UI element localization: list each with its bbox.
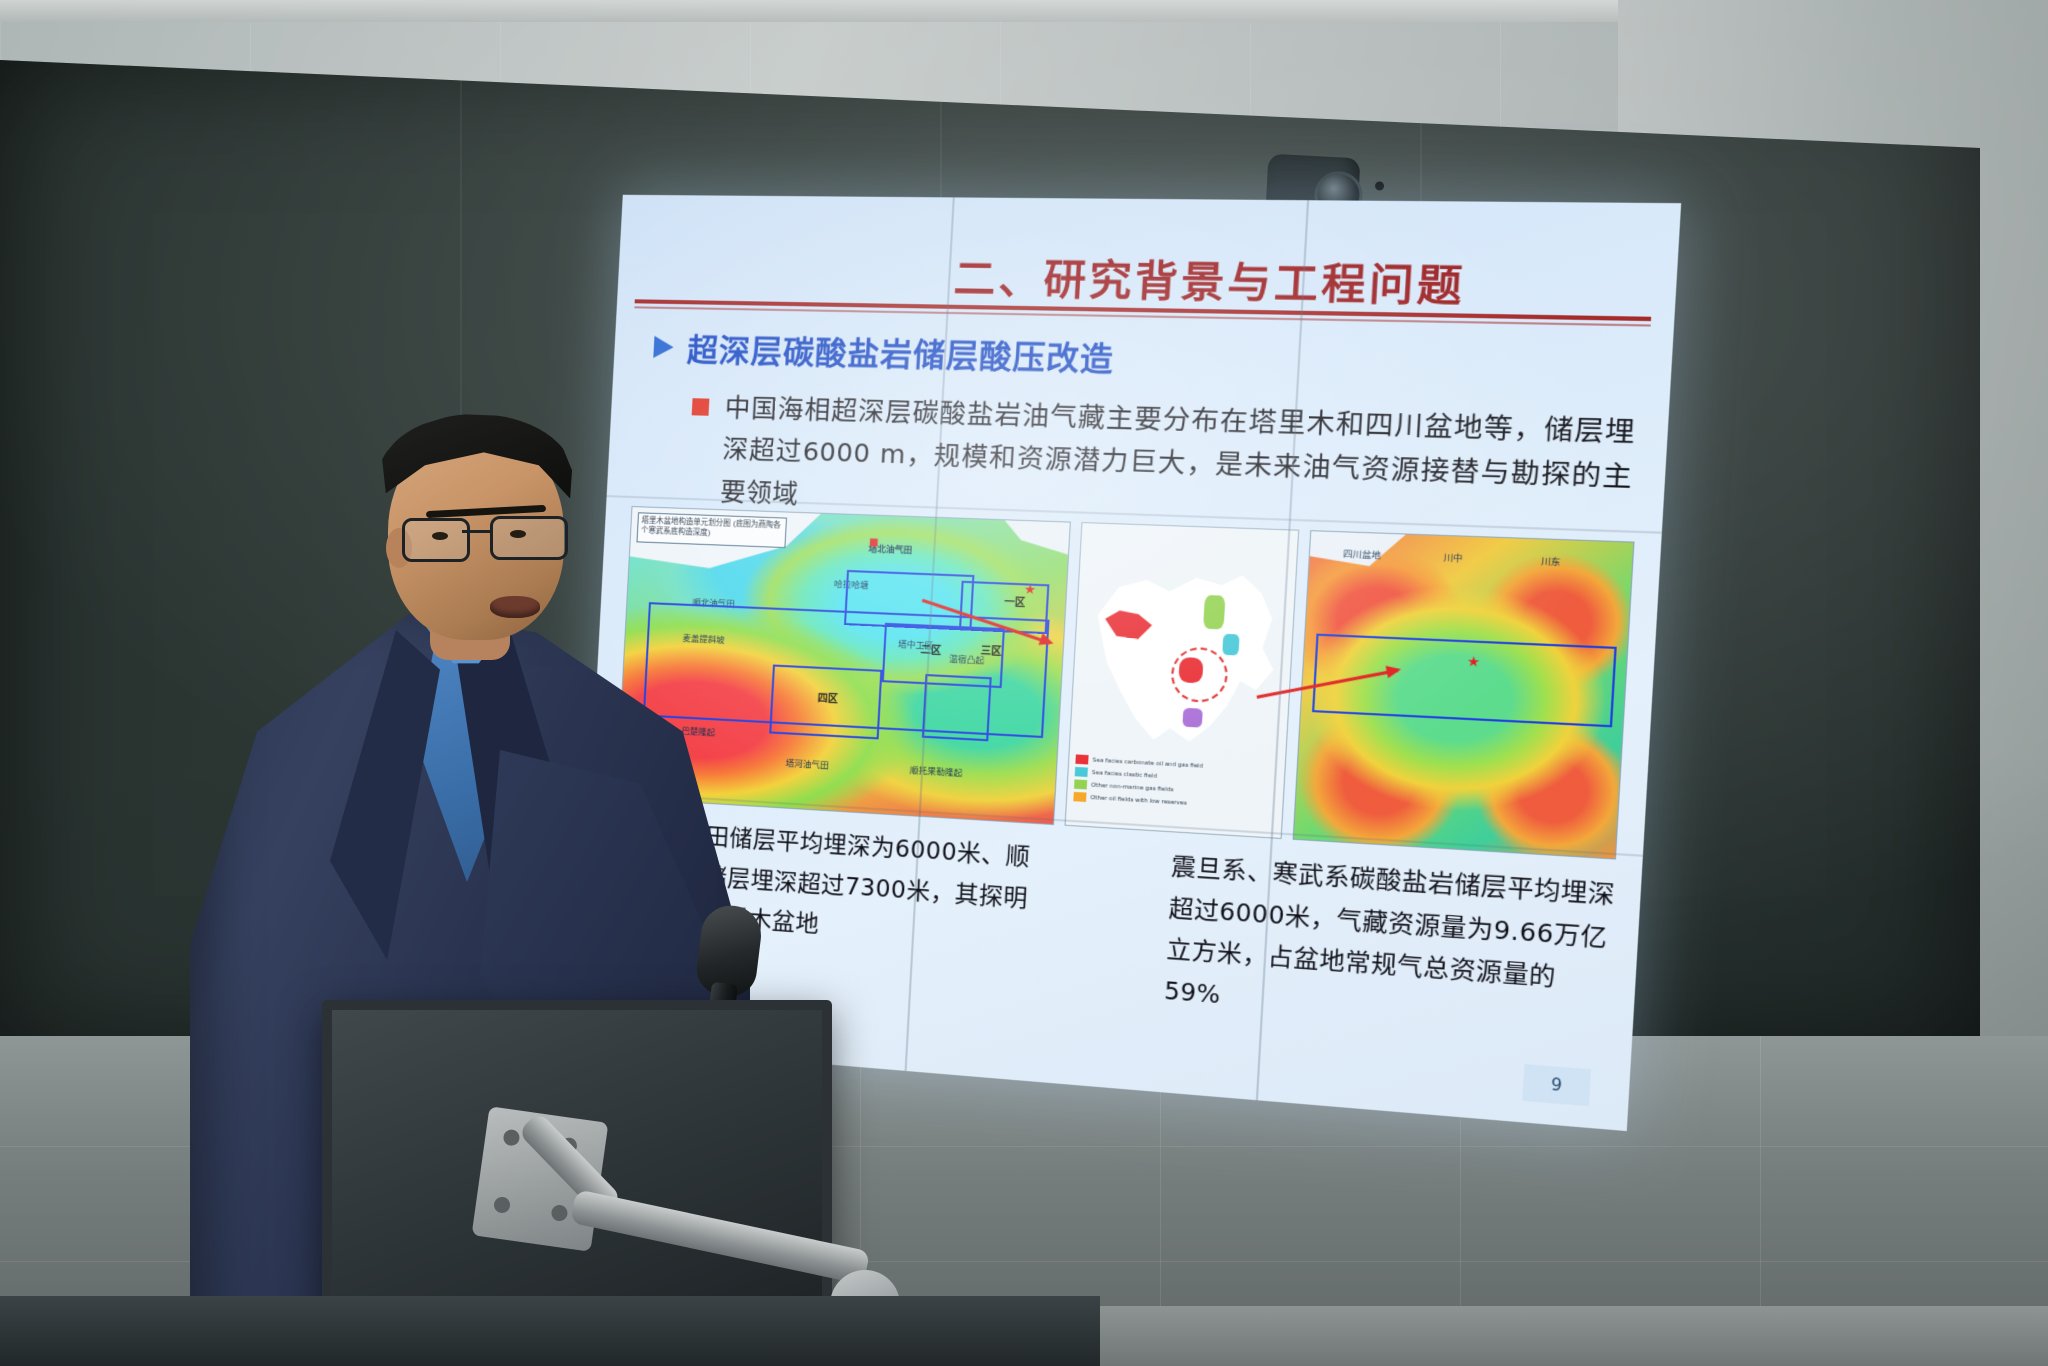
- red-square-icon: ■: [869, 538, 879, 549]
- zone-label-1: 一区: [1004, 593, 1026, 609]
- glasses-bridge: [462, 530, 492, 533]
- arrow-bullet-icon: [653, 335, 674, 358]
- screenshot-root: 二、研究背景与工程问题 超深层碳酸盐岩储层酸压改造 中国海相超深层碳酸盐岩油气藏…: [0, 0, 2048, 1366]
- slide-heading-row: 超深层碳酸盐岩储层酸压改造: [653, 324, 1116, 380]
- camera-indicator-icon: [1375, 181, 1384, 190]
- cyan-field-icon: [1222, 634, 1239, 656]
- speaker-eye-right: [510, 530, 526, 538]
- sichuan-label-2: 川东: [1541, 555, 1561, 569]
- legend-swatch-icon: [1074, 779, 1087, 789]
- legend-label: Sea facies carbonate oil and gas field: [1092, 757, 1203, 769]
- sichuan-label-0: 四川盆地: [1343, 547, 1381, 561]
- red-star-icon: ★: [1466, 655, 1480, 670]
- legend-swatch-icon: [1075, 754, 1088, 764]
- caption-right: 震旦系、寒武系碳酸盐岩储层平均埋深超过6000米，气藏资源量为9.66万亿立方米…: [1163, 847, 1619, 1047]
- glasses-lens-right: [490, 516, 568, 560]
- slide-heading-text: 超深层碳酸盐岩储层酸压改造: [686, 324, 1115, 379]
- zone-label-3: 三区: [980, 642, 1002, 658]
- speaker-mouth: [490, 596, 540, 618]
- legend-swatch-icon: [1073, 792, 1086, 802]
- zone-label-2: 二区: [920, 641, 941, 657]
- slide-page-number: 9: [1522, 1064, 1591, 1106]
- legend-label: Other non-marine gas fields: [1091, 782, 1174, 793]
- monitor-arm-segment-lower: [570, 1189, 871, 1285]
- legend-label: Other oil fields with low reserves: [1090, 794, 1187, 806]
- sichuan-label-1: 川中: [1443, 551, 1463, 565]
- legend-swatch-icon: [1075, 767, 1088, 777]
- red-star-icon: ★: [1023, 583, 1036, 597]
- sichuan-basin-structure-map: 四川盆地 川中 川东 ★: [1293, 530, 1635, 859]
- green-field-icon: [1203, 595, 1225, 630]
- china-distribution-map: Sea facies carbonate oil and gas field S…: [1065, 522, 1300, 839]
- zone-label-4: 四区: [817, 689, 838, 705]
- map-legend: Sea facies carbonate oil and gas field S…: [1073, 754, 1275, 816]
- purple-field-icon: [1182, 708, 1203, 728]
- legend-label: Sea facies clastic field: [1092, 769, 1157, 779]
- square-bullet-icon: [692, 398, 710, 416]
- glasses-lens-left: [402, 518, 470, 562]
- sichuan-zone-box: [1312, 634, 1617, 728]
- zone-box-extra: [922, 674, 992, 741]
- speaker-glasses: [402, 516, 572, 560]
- speaker-eye-left: [432, 532, 448, 540]
- podium-desk: [0, 1296, 1100, 1366]
- china-outline: [1078, 544, 1288, 763]
- zone-box-upper: [844, 570, 974, 631]
